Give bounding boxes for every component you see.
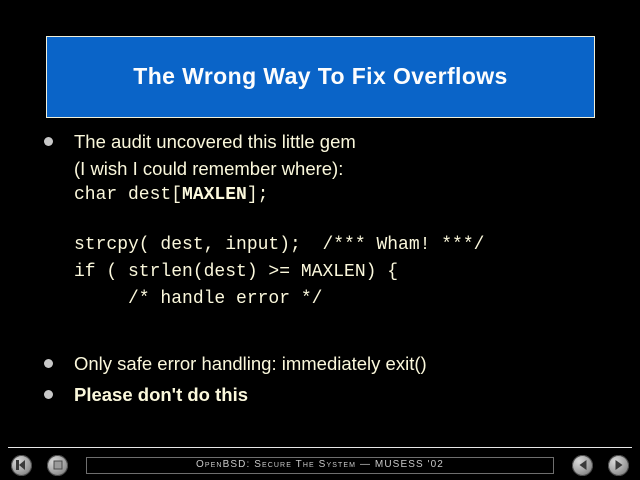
bullet-dot-icon bbox=[44, 137, 53, 146]
stop-square-icon bbox=[53, 461, 62, 470]
bullet-line-only-safe: Only safe error handling: immediately ex… bbox=[44, 350, 427, 377]
bullet-group-audit: The audit uncovered this little gem (I w… bbox=[44, 128, 624, 209]
slide-title-banner: The Wrong Way To Fix Overflows bbox=[46, 36, 595, 118]
skip-back-icon bbox=[19, 460, 25, 470]
bullet-line-audit-1: The audit uncovered this little gem bbox=[44, 128, 356, 155]
stop-button[interactable] bbox=[47, 455, 68, 476]
next-slide-button[interactable] bbox=[608, 455, 629, 476]
footer-nav-right bbox=[572, 455, 640, 476]
triangle-right-icon bbox=[615, 460, 622, 470]
list-item: Please don't do this bbox=[44, 381, 624, 408]
bullet-line-please-dont: Please don't do this bbox=[44, 381, 248, 408]
code-line-handle-error: /* handle error */ bbox=[74, 286, 634, 313]
footer-title-box: OpenBSD: Secure The System — MUSESS '02 bbox=[86, 457, 554, 474]
code-declaration-tail: ]; bbox=[247, 185, 269, 205]
footer-title: OpenBSD: Secure The System — MUSESS '02 bbox=[196, 460, 444, 470]
code-declaration: char dest[MAXLEN]; bbox=[44, 182, 624, 209]
bullet-line-audit-2: (I wish I could remember where): bbox=[44, 155, 624, 182]
previous-slide-button[interactable] bbox=[572, 455, 593, 476]
list-item: Only safe error handling: immediately ex… bbox=[44, 350, 624, 377]
triangle-left-icon bbox=[579, 460, 586, 470]
code-declaration-plain: char dest[ bbox=[74, 185, 182, 205]
footer-divider bbox=[8, 447, 632, 448]
code-block: strcpy( dest, input); /*** Wham! ***/ if… bbox=[74, 232, 634, 313]
slide-footer: OpenBSD: Secure The System — MUSESS '02 bbox=[0, 452, 640, 478]
first-slide-button[interactable] bbox=[11, 455, 32, 476]
code-declaration-macro: MAXLEN bbox=[182, 185, 247, 205]
bullet-group-conclusions: Only safe error handling: immediately ex… bbox=[44, 350, 624, 412]
page-title: The Wrong Way To Fix Overflows bbox=[133, 64, 508, 89]
footer-nav-left bbox=[0, 455, 68, 476]
code-line-if-strlen: if ( strlen(dest) >= MAXLEN) { bbox=[74, 259, 634, 286]
bullet-dot-icon bbox=[44, 359, 53, 368]
bullet-dot-icon bbox=[44, 390, 53, 399]
code-line-strcpy: strcpy( dest, input); /*** Wham! ***/ bbox=[74, 232, 634, 259]
list-item: The audit uncovered this little gem bbox=[44, 128, 624, 155]
presentation-slide: The Wrong Way To Fix Overflows The audit… bbox=[0, 0, 640, 480]
